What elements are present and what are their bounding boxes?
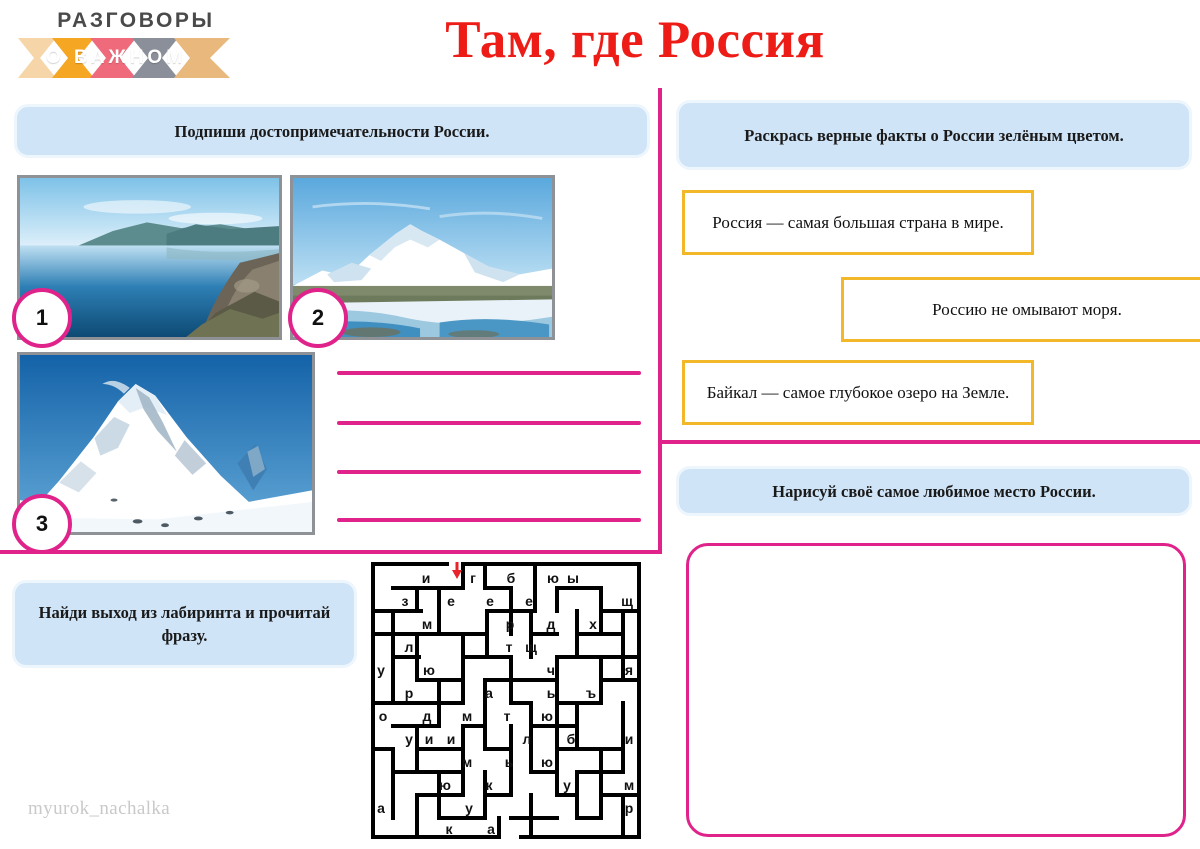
svg-text:у: у	[563, 777, 571, 793]
svg-text:ы: ы	[567, 570, 579, 586]
razgovory-o-vazhnom-logo: РАЗГОВОРЫ О ВАЖНОМ	[18, 6, 248, 86]
svg-text:ю: ю	[547, 570, 559, 586]
page-title: Там, где Россия	[330, 6, 940, 74]
landmark-badge-2: 2	[288, 288, 348, 348]
svg-text:р: р	[625, 800, 634, 816]
svg-text:у: у	[465, 800, 473, 816]
horizontal-divider-left	[0, 550, 662, 554]
answer-line-3[interactable]	[337, 470, 641, 474]
maze-grid: иг бюы зее ещ мр дх лтщ ую чя ра ьъ одм …	[371, 562, 641, 839]
svg-text:л: л	[405, 639, 414, 655]
svg-text:у: у	[405, 731, 413, 747]
logo-banner: О ВАЖНОМ	[18, 38, 246, 78]
svg-text:ю: ю	[541, 754, 553, 770]
fact-box-1-text: Россия — самая большая страна в мире.	[712, 210, 1003, 235]
svg-text:ъ: ъ	[586, 685, 596, 701]
svg-text:м: м	[462, 754, 472, 770]
svg-text:я: я	[625, 662, 633, 678]
svg-text:и: и	[447, 731, 456, 747]
svg-text:д: д	[547, 616, 556, 632]
svg-text:м: м	[624, 777, 634, 793]
logo-line-1: РАЗГОВОРЫ	[28, 6, 244, 36]
maze-instruction-text: Найди выход из лабиринта и прочитай фраз…	[29, 601, 340, 647]
svg-text:ч: ч	[547, 662, 555, 678]
fact-box-3[interactable]: Байкал — самое глубокое озеро на Земле.	[682, 360, 1034, 425]
maze-entry-arrow-icon	[452, 562, 462, 579]
fact-box-2[interactable]: Россию не омывают моря.	[841, 277, 1200, 342]
landmark-badge-1: 1	[12, 288, 72, 348]
svg-text:щ: щ	[525, 639, 537, 655]
svg-text:ь: ь	[505, 754, 514, 770]
answer-line-2[interactable]	[337, 421, 641, 425]
landmark-badge-3-text: 3	[36, 511, 48, 537]
svg-text:а: а	[485, 685, 493, 701]
svg-text:л: л	[523, 731, 532, 747]
svg-text:и: и	[425, 731, 434, 747]
svg-text:к: к	[445, 821, 453, 837]
svg-text:м: м	[462, 708, 472, 724]
svg-text:р: р	[506, 616, 515, 632]
worksheet-page: РАЗГОВОРЫ О ВАЖНОМ Там, где Россия Подпи…	[0, 0, 1200, 849]
svg-text:щ: щ	[621, 593, 633, 609]
fact-box-3-text: Байкал — самое глубокое озеро на Земле.	[707, 380, 1010, 405]
drawing-area[interactable]	[686, 543, 1186, 837]
svg-text:ю: ю	[439, 777, 451, 793]
svg-text:е: е	[525, 593, 533, 609]
logo-line-2: О ВАЖНОМ	[18, 38, 214, 78]
svg-text:б: б	[567, 731, 576, 747]
svg-text:а: а	[487, 821, 495, 837]
svg-text:а: а	[377, 800, 385, 816]
watermark: myurok_nachalka	[28, 798, 170, 820]
fact-box-1[interactable]: Россия — самая большая страна в мире.	[682, 190, 1034, 255]
svg-text:к: к	[485, 777, 493, 793]
drawing-instruction: Нарисуй своё самое любимое место России.	[676, 466, 1192, 516]
svg-text:т: т	[506, 639, 513, 655]
svg-text:ю: ю	[423, 662, 435, 678]
svg-text:з: з	[402, 593, 409, 609]
svg-text:г: г	[470, 570, 476, 586]
svg-text:и: и	[422, 570, 431, 586]
landmark-badge-1-text: 1	[36, 305, 48, 331]
facts-instruction: Раскрась верные факты о России зелёным ц…	[676, 100, 1192, 170]
landmark-badge-3: 3	[12, 494, 72, 554]
landmark-badge-2-text: 2	[312, 305, 324, 331]
svg-text:р: р	[405, 685, 414, 701]
drawing-instruction-text: Нарисуй своё самое любимое место России.	[772, 480, 1095, 503]
horizontal-divider-right	[658, 440, 1200, 444]
svg-text:о: о	[379, 708, 388, 724]
fact-box-2-text: Россию не омывают моря.	[932, 297, 1122, 322]
maze-instruction: Найди выход из лабиринта и прочитай фраз…	[12, 580, 357, 668]
facts-instruction-text: Раскрась верные факты о России зелёным ц…	[744, 124, 1124, 147]
svg-text:е: е	[486, 593, 494, 609]
svg-text:у: у	[377, 662, 385, 678]
maze-puzzle[interactable]: иг бюы зее ещ мр дх лтщ ую чя ра ьъ одм …	[371, 562, 641, 839]
landmarks-instruction: Подпиши достопримечательности России.	[14, 104, 650, 158]
vertical-divider	[658, 88, 662, 554]
svg-text:б: б	[507, 570, 516, 586]
svg-text:е: е	[447, 593, 455, 609]
svg-text:д: д	[423, 708, 432, 724]
svg-text:м: м	[422, 616, 432, 632]
landmarks-instruction-text: Подпиши достопримечательности России.	[175, 120, 490, 143]
answer-line-1[interactable]	[337, 371, 641, 375]
answer-line-4[interactable]	[337, 518, 641, 522]
svg-text:т: т	[504, 708, 511, 724]
svg-text:ю: ю	[541, 708, 553, 724]
svg-text:и: и	[625, 731, 634, 747]
svg-text:х: х	[589, 616, 597, 632]
svg-text:ь: ь	[547, 685, 556, 701]
